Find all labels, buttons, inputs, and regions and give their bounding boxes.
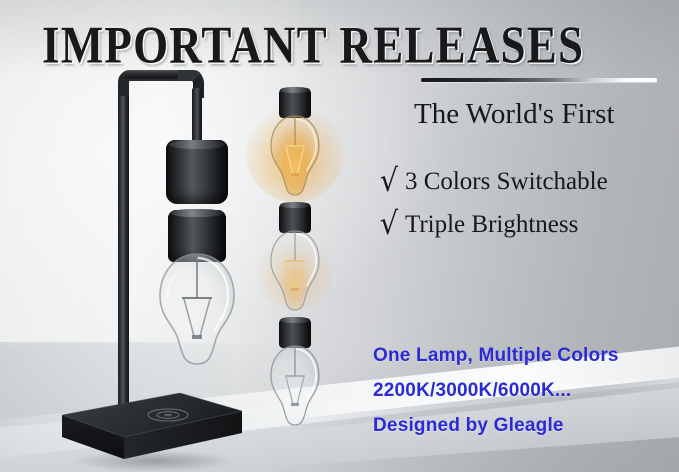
levitating-bulb-glass bbox=[148, 252, 246, 370]
advertisement-canvas: Important Releases The World's First √ 3… bbox=[0, 0, 679, 472]
bulb-warm-2200k bbox=[262, 88, 328, 200]
marketing-copy: One Lamp, Multiple Colors 2200K/3000K/60… bbox=[373, 345, 619, 450]
feature-list: √ 3 Colors Switchable √ Triple Brightnes… bbox=[381, 166, 608, 252]
feature-label: Triple Brightness bbox=[405, 211, 578, 239]
feature-item: √ Triple Brightness bbox=[381, 209, 608, 239]
lamp-arm-drop bbox=[192, 88, 202, 148]
bulb-neutral-3000k bbox=[262, 203, 328, 315]
lamp-pole bbox=[118, 90, 129, 412]
checkmark-icon: √ bbox=[380, 205, 398, 241]
feature-label: 3 Colors Switchable bbox=[405, 168, 608, 196]
marketing-line: Designed by Gleagle bbox=[373, 415, 619, 437]
lamp-socket-housing bbox=[166, 140, 228, 204]
lamp-socket-rim bbox=[169, 140, 225, 149]
levitating-bulb-cap-rim bbox=[171, 209, 223, 217]
feature-item: √ 3 Colors Switchable bbox=[381, 166, 608, 196]
title-divider bbox=[421, 78, 657, 82]
marketing-line: One Lamp, Multiple Colors bbox=[373, 345, 619, 367]
bulb-cool-6000k bbox=[262, 318, 328, 430]
subtitle: The World's First bbox=[414, 98, 615, 131]
lamp-base bbox=[62, 393, 242, 472]
marketing-line: 2200K/3000K/6000K... bbox=[373, 380, 619, 402]
page-title: Important Releases bbox=[42, 14, 642, 75]
checkmark-icon: √ bbox=[380, 162, 398, 198]
